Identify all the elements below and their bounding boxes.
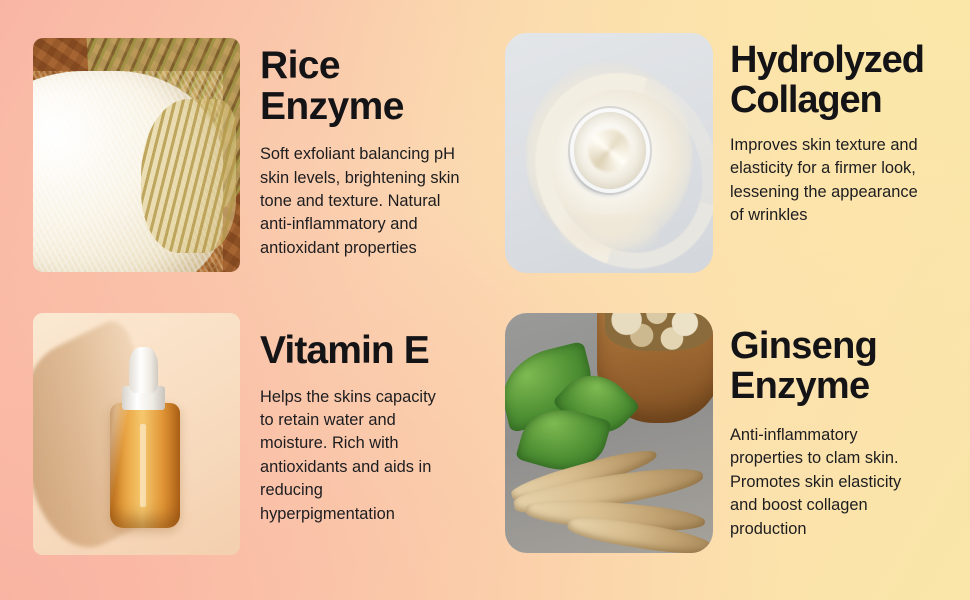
bowl-seeds	[605, 313, 713, 351]
hydrolyzed-collagen-title: Hydrolyzed Collagen	[730, 41, 964, 120]
ingredient-card-grid: Rice Enzyme Soft exfoliant balancing pH …	[0, 0, 970, 600]
ginseng-enzyme-text: Ginseng Enzyme Anti-inflammatory propert…	[713, 313, 970, 541]
vitamin-e-title: Vitamin E	[260, 331, 463, 372]
serum-pipette	[140, 424, 146, 506]
vitamin-e-text: Vitamin E Helps the skins capacity to re…	[240, 313, 475, 526]
rice-illustration	[33, 38, 240, 272]
vitamin-e-description: Helps the skins capacity to retain water…	[260, 386, 452, 527]
serum-bottle-illustration	[33, 313, 240, 555]
ginseng-illustration	[505, 313, 713, 553]
ginseng-enzyme-title: Ginseng Enzyme	[730, 327, 964, 406]
hydrolyzed-collagen-description: Improves skin texture and elasticity for…	[730, 134, 920, 228]
serum-dropper-cap	[129, 347, 158, 393]
rice-enzyme-text: Rice Enzyme Soft exfoliant balancing pH …	[240, 38, 475, 260]
ginseng-enzyme-description: Anti-inflammatory properties to clam ski…	[730, 424, 910, 541]
vitamin-e-image	[33, 313, 240, 555]
ginseng-enzyme-image	[505, 313, 713, 553]
collagen-jar-powder-swirl	[588, 129, 630, 172]
ingredient-card-vitamin-e: Vitamin E Helps the skins capacity to re…	[0, 285, 475, 600]
rice-enzyme-description: Soft exfoliant balancing pH skin levels,…	[260, 143, 460, 260]
hydrolyzed-collagen-image	[505, 33, 713, 273]
ingredient-card-rice-enzyme: Rice Enzyme Soft exfoliant balancing pH …	[0, 0, 475, 285]
rice-enzyme-title: Rice Enzyme	[260, 46, 463, 127]
collagen-powder-spill	[559, 215, 659, 253]
ingredient-benefits-infographic: Rice Enzyme Soft exfoliant balancing pH …	[0, 0, 970, 600]
ingredient-card-hydrolyzed-collagen: Hydrolyzed Collagen Improves skin textur…	[475, 0, 970, 285]
rice-enzyme-image	[33, 38, 240, 272]
ingredient-card-ginseng-enzyme: Ginseng Enzyme Anti-inflammatory propert…	[475, 285, 970, 600]
collagen-powder-illustration	[505, 33, 713, 273]
hydrolyzed-collagen-text: Hydrolyzed Collagen Improves skin textur…	[713, 33, 970, 228]
rice-stalks-secondary	[141, 99, 236, 253]
